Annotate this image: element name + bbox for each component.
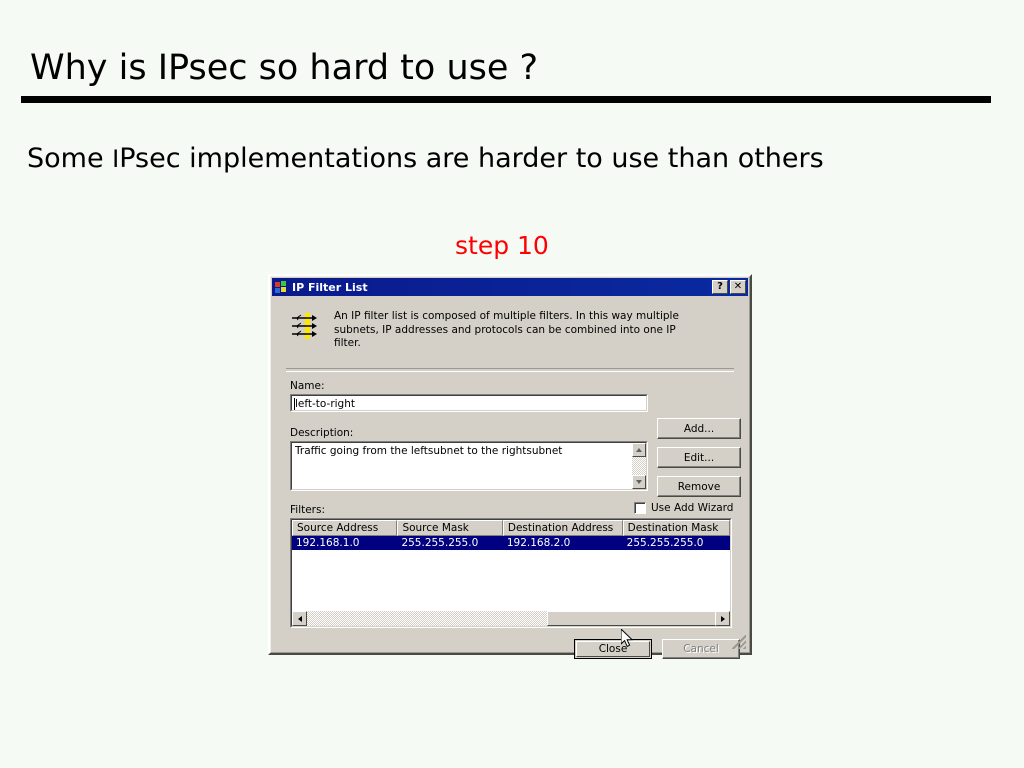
name-input[interactable]: left-to-right <box>290 394 648 412</box>
filters-horizontal-scrollbar[interactable] <box>292 611 730 626</box>
close-dialog-button[interactable]: Close <box>574 639 652 659</box>
cell-source-address: 192.168.1.0 <box>292 536 397 550</box>
scroll-left-icon[interactable] <box>292 611 307 626</box>
scroll-right-icon[interactable] <box>715 611 730 626</box>
use-add-wizard-row[interactable]: Use Add Wizard <box>634 502 733 514</box>
remove-button[interactable]: Remove <box>657 476 741 497</box>
column-header-destination-address[interactable]: Destination Address <box>503 520 623 536</box>
windows-logo-icon <box>274 280 288 294</box>
description-textarea[interactable]: Traffic going from the leftsubnet to the… <box>290 441 648 491</box>
close-icon[interactable]: ✕ <box>730 280 746 294</box>
body-rest: Psec implementations are harder to use t… <box>119 143 823 174</box>
dialog-title: IP Filter List <box>292 281 710 294</box>
description-label: Description: <box>290 427 353 439</box>
body-prefix: Some <box>27 143 112 174</box>
cell-destination-address: 192.168.2.0 <box>503 536 623 550</box>
cancel-button-label: Cancel <box>663 643 739 655</box>
step-label: step 10 <box>455 231 549 260</box>
page-title: Why is IPsec so hard to use ? <box>30 48 538 88</box>
ip-filter-list-dialog: IP Filter List ? ✕ <box>268 274 752 655</box>
name-input-value: left-to-right <box>295 398 355 410</box>
column-header-destination-mask[interactable]: Destination Mask <box>623 520 730 536</box>
edit-button-label: Edit... <box>658 452 740 464</box>
ip-filter-icon <box>288 310 320 342</box>
title-divider <box>21 96 991 103</box>
resize-grip-icon[interactable] <box>732 635 746 649</box>
cancel-button: Cancel <box>662 639 740 659</box>
scrollbar-track[interactable] <box>632 457 646 475</box>
section-divider <box>286 368 734 372</box>
slide-body-text: Some IPsec implementations are harder to… <box>27 143 824 174</box>
cell-destination-mask: 255.255.255.0 <box>623 536 730 550</box>
cell-source-mask: 255.255.255.0 <box>397 536 502 550</box>
info-description: An IP filter list is composed of multipl… <box>334 310 704 351</box>
presentation-slide: Why is IPsec so hard to use ? Some IPsec… <box>0 0 1024 768</box>
dialog-titlebar[interactable]: IP Filter List ? ✕ <box>272 278 748 296</box>
edit-button[interactable]: Edit... <box>657 447 741 468</box>
use-add-wizard-label: Use Add Wizard <box>651 502 733 514</box>
remove-button-label: Remove <box>658 481 740 493</box>
name-label: Name: <box>290 380 325 392</box>
scroll-up-icon[interactable] <box>632 443 646 457</box>
filters-label: Filters: <box>290 504 325 516</box>
info-banner: An IP filter list is composed of multipl… <box>288 310 734 351</box>
hscrollbar-thumb[interactable] <box>547 611 719 626</box>
description-value: Traffic going from the leftsubnet to the… <box>295 445 562 457</box>
scroll-down-icon[interactable] <box>632 475 646 489</box>
add-button-label: Add... <box>658 423 740 435</box>
add-button[interactable]: Add... <box>657 418 741 439</box>
use-add-wizard-checkbox[interactable] <box>634 502 646 514</box>
column-header-source-address[interactable]: Source Address <box>292 520 397 536</box>
table-row[interactable]: 192.168.1.0 255.255.255.0 192.168.2.0 25… <box>292 536 730 550</box>
filters-list[interactable]: Source Address Source Mask Destination A… <box>290 518 732 628</box>
description-vertical-scrollbar[interactable] <box>632 443 646 489</box>
dialog-body: An IP filter list is composed of multipl… <box>272 296 748 651</box>
help-icon[interactable]: ? <box>712 280 728 294</box>
column-header-source-mask[interactable]: Source Mask <box>397 520 502 536</box>
filters-table-header: Source Address Source Mask Destination A… <box>292 520 730 536</box>
close-button-label: Close <box>575 643 651 655</box>
